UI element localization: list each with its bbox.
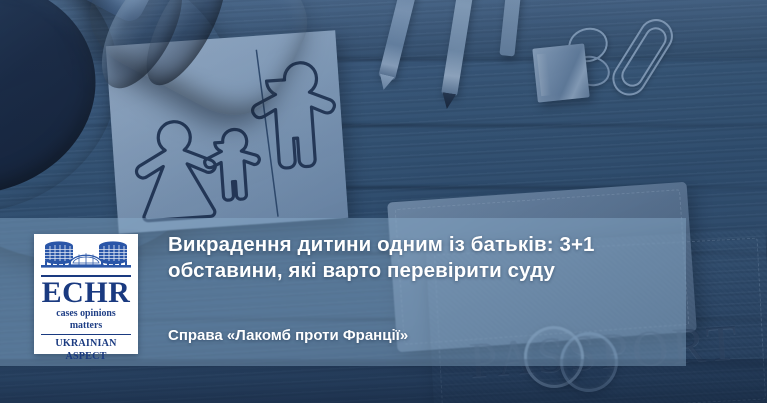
logo-acronym: ECHR (39, 278, 133, 308)
echr-logo[interactable]: ECHR cases opinions matters UKRAINIAN AS… (34, 234, 138, 354)
banner-title: Викрадення дитини одним із батьків: 3+1 … (168, 232, 638, 284)
court-building-icon (39, 239, 133, 273)
logo-footer: UKRAINIAN ASPECT (43, 337, 129, 363)
logo-divider (41, 334, 131, 336)
banner-subtitle: Справа «Лакомб проти Франції» (168, 326, 638, 346)
logo-tagline: cases opinions matters (42, 308, 130, 332)
banner-image: PASSPORT (0, 0, 767, 403)
